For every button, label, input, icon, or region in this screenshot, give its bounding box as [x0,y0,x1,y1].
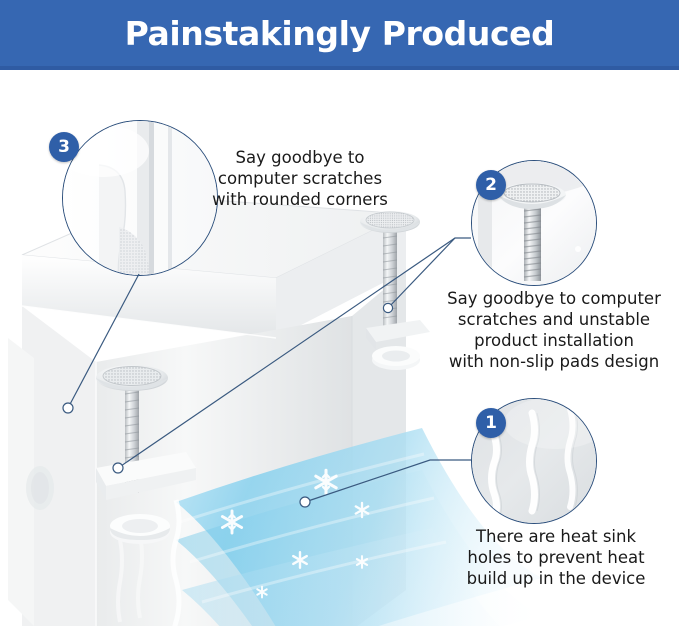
page-title: Painstakingly Produced [125,14,555,53]
callout-badge-1[interactable]: 1 [476,408,506,438]
header-banner: Painstakingly Produced [0,0,679,70]
callout-caption-2: Say goodbye to computer scratches and un… [432,288,676,372]
callout-caption-3: Say goodbye to computer scratches with r… [186,147,414,210]
callout-badge-2[interactable]: 2 [476,170,506,200]
callout-caption-1: There are heat sink holes to prevent hea… [440,526,672,589]
infographic-stage: 3 Say goodbye to computer scratches with… [0,70,679,626]
callout-badge-3[interactable]: 3 [49,132,79,162]
